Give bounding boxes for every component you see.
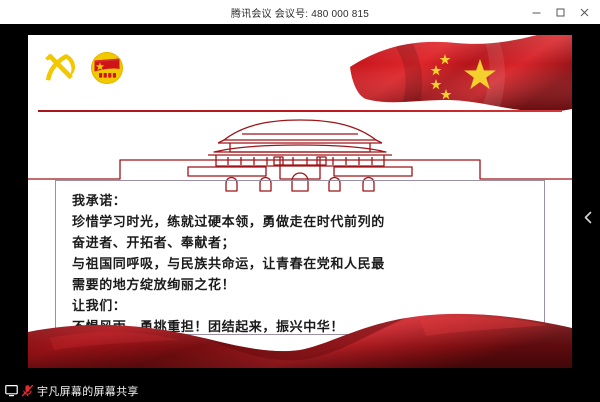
emblem-row (42, 51, 124, 85)
share-status-bar: 宇凡屏幕的屏幕共享 (0, 379, 600, 402)
pledge-line: 我承诺： (72, 191, 530, 212)
screen-share-icon (5, 384, 18, 397)
pledge-line: 珍惜学习时光，练就过硬本领，勇做走在时代前列的 (72, 212, 530, 233)
window-controls (524, 0, 596, 24)
presentation-slide: 我承诺： 珍惜学习时光，练就过硬本领，勇做走在时代前列的 奋进者、开拓者、奉献者… (28, 35, 572, 368)
pledge-line: 奋进者、开拓者、奉献者； (72, 233, 530, 254)
minimize-button[interactable] (524, 1, 548, 23)
window-title: 腾讯会议 会议号: 480 000 815 (231, 5, 369, 20)
red-silk-drapery (28, 298, 572, 368)
title-bar[interactable]: 腾讯会议 会议号: 480 000 815 (0, 0, 600, 25)
cpc-party-emblem (42, 51, 78, 85)
red-divider-rule (38, 110, 562, 112)
screen-share-stage: 我承诺： 珍惜学习时光，练就过硬本领，勇做走在时代前列的 奋进者、开拓者、奉献者… (0, 24, 600, 379)
maximize-button[interactable] (548, 1, 572, 23)
tencent-meeting-window: 腾讯会议 会议号: 480 000 815 (0, 0, 600, 402)
microphone-muted-icon (21, 384, 34, 397)
chevron-left-icon (584, 211, 593, 224)
close-button[interactable] (572, 1, 596, 23)
collapse-panel-button[interactable] (581, 204, 595, 230)
communist-youth-league-emblem (90, 51, 124, 85)
pledge-line: 与祖国同呼吸，与民族共命运，让青春在党和人民最 (72, 254, 530, 275)
share-status-label: 宇凡屏幕的屏幕共享 (37, 383, 139, 399)
pledge-line: 需要的地方绽放绚丽之花！ (72, 275, 530, 296)
